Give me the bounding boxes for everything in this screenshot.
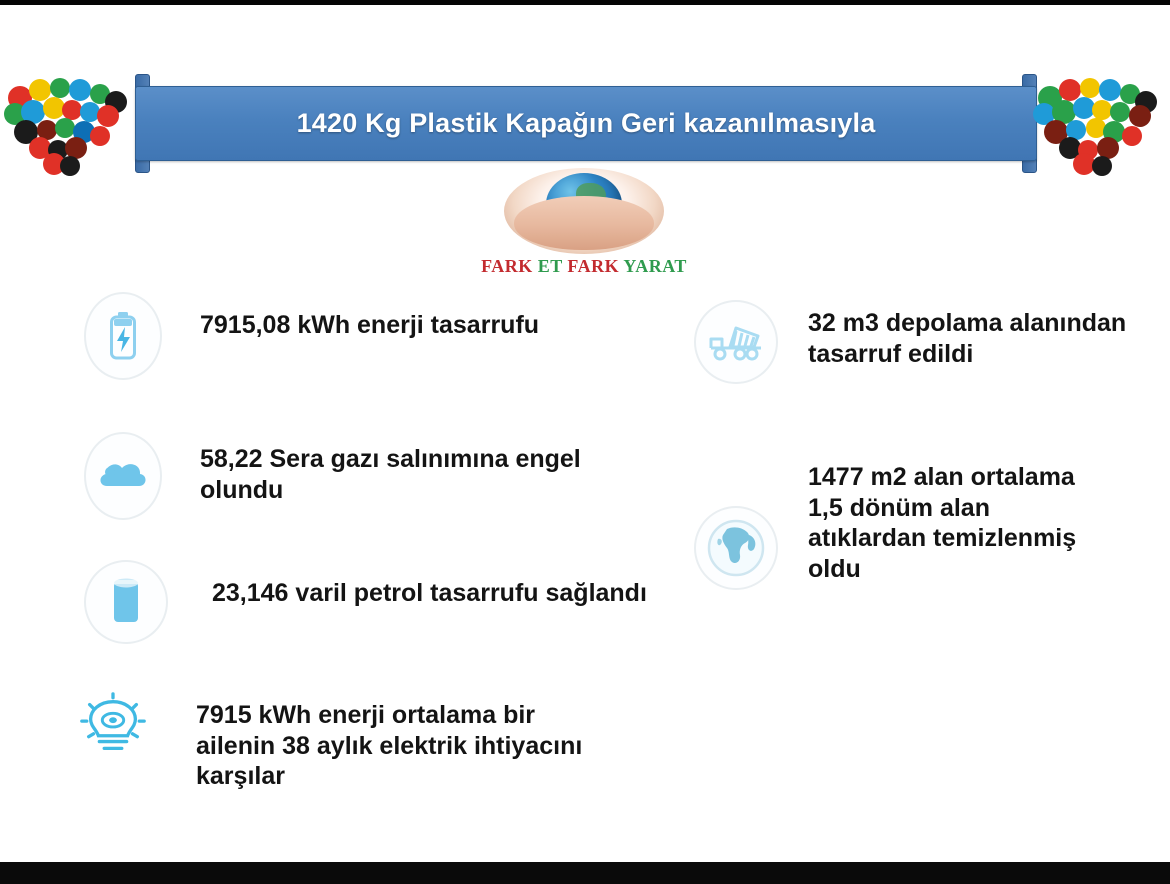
cloud-icon — [84, 432, 162, 520]
bottle-cap-heart-left — [2, 64, 144, 180]
dump-truck-icon — [694, 300, 778, 384]
stat-energy-saving-label: 7915,08 kWh enerji tasarrufu — [200, 310, 539, 341]
bottle-cap-heart-right — [1024, 64, 1166, 180]
battery-charge-icon — [84, 292, 162, 380]
logo-caption-part-3: YARAT — [623, 256, 687, 276]
stat-household-electricity-label: 7915 kWh enerji ortalama bir ailenin 38 … — [196, 700, 616, 792]
logo-hands-icon — [514, 196, 654, 250]
slide-header: 1420 Kg Plastik Kapağın Geri kazanılması… — [0, 60, 1170, 182]
top-letterbox-bar — [0, 0, 1170, 5]
bottom-letterbox-bar — [0, 862, 1170, 884]
stat-cleaned-area: 1477 m2 alan ortalama 1,5 dönüm alan atı… — [694, 462, 1164, 590]
page-title: 1420 Kg Plastik Kapağın Geri kazanılması… — [297, 108, 876, 139]
logo-emblem — [504, 168, 664, 254]
globe-icon — [694, 506, 778, 590]
stat-oil-barrel-label: 23,146 varil petrol tasarrufu sağlandı — [212, 578, 664, 609]
logo-caption-part-0: FARK — [481, 256, 538, 276]
stat-household-electricity: 7915 kWh enerji ortalama bir ailenin 38 … — [76, 684, 656, 792]
logo-caption-part-2: FARK — [567, 256, 623, 276]
lightbulb-icon — [76, 684, 150, 768]
stat-greenhouse-gas: 58,22 Sera gazı salınımına engel olundu — [84, 432, 664, 520]
stat-oil-barrel: 23,146 varil petrol tasarrufu sağlandı — [84, 560, 664, 644]
stat-storage-space: 32 m3 depolama alanından tasarruf edildi — [694, 300, 1164, 384]
stat-cleaned-area-label: 1477 m2 alan ortalama 1,5 dönüm alan atı… — [808, 462, 1108, 584]
stat-greenhouse-gas-label: 58,22 Sera gazı salınımına engel olundu — [200, 444, 664, 505]
stat-energy-saving: 7915,08 kWh enerji tasarrufu — [84, 292, 664, 380]
logo-caption: FARK ET FARK YARAT — [470, 256, 698, 277]
logo-caption-part-1: ET — [538, 256, 568, 276]
slide-canvas: 1420 Kg Plastik Kapağın Geri kazanılması… — [0, 0, 1170, 884]
stat-storage-space-label: 32 m3 depolama alanından tasarruf edildi — [808, 308, 1164, 369]
title-ribbon: 1420 Kg Plastik Kapağın Geri kazanılması… — [135, 86, 1037, 161]
oil-barrel-icon — [84, 560, 168, 644]
fark-et-fark-yarat-logo: FARK ET FARK YARAT — [470, 168, 698, 280]
